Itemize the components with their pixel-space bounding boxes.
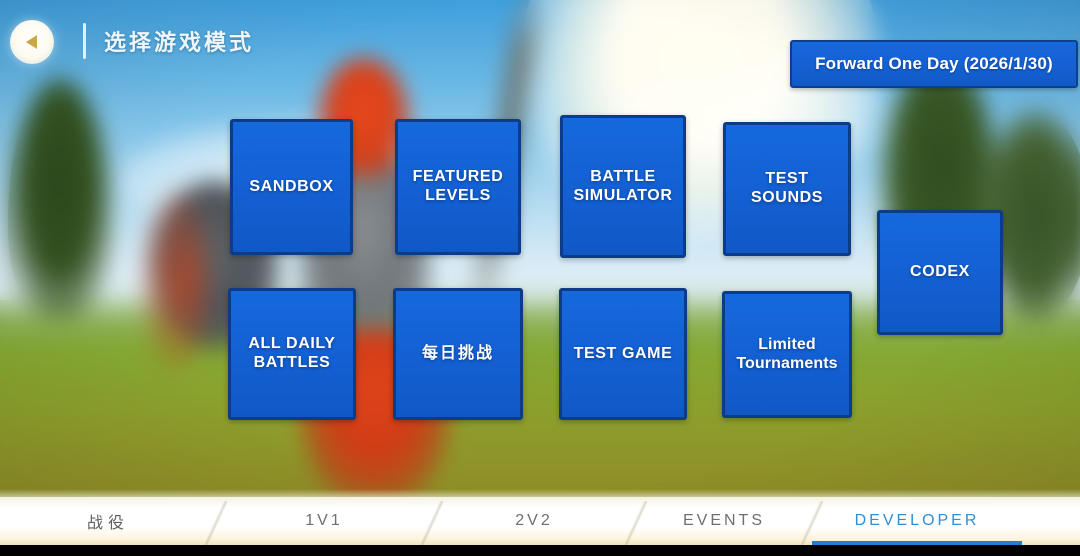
tab-campaign[interactable]: 战役: [0, 497, 216, 545]
tab-label: 战役: [87, 509, 129, 533]
mode-button-battle-simulator[interactable]: BATTLESIMULATOR: [560, 115, 686, 258]
tab-events[interactable]: EVENTS: [636, 497, 812, 545]
mode-button-limited-tournaments[interactable]: LimitedTournaments: [722, 291, 852, 418]
bottom-tab-bar: 战役1V12V2EVENTSDEVELOPER: [0, 497, 1080, 545]
mode-button-label: TEST GAME: [568, 345, 679, 364]
mode-button-label: BATTLESIMULATOR: [567, 168, 678, 206]
tab-2v2[interactable]: 2V2: [432, 497, 636, 545]
mode-button-daily-challenge[interactable]: 每日挑战: [393, 288, 523, 420]
forward-one-day-button[interactable]: Forward One Day (2026/1/30): [790, 40, 1078, 88]
tab-label: 2V2: [515, 512, 552, 530]
screen-bottom-bezel: [0, 545, 1080, 556]
mode-button-label: ALL DAILYBATTLES: [242, 335, 341, 373]
mode-button-label: CODEX: [904, 263, 976, 282]
mode-button-test-game[interactable]: TEST GAME: [559, 288, 687, 420]
mode-button-label: FEATUREDLEVELS: [407, 168, 510, 206]
back-button[interactable]: [10, 20, 54, 64]
page-title: 选择游戏模式: [104, 25, 254, 57]
mode-button-label: LimitedTournaments: [730, 336, 843, 374]
mode-button-featured-levels[interactable]: FEATUREDLEVELS: [395, 119, 521, 255]
tab-developer[interactable]: DEVELOPER: [812, 497, 1022, 545]
back-triangle-icon: [26, 35, 37, 49]
mode-button-all-daily-battles[interactable]: ALL DAILYBATTLES: [228, 288, 356, 420]
mode-button-codex[interactable]: CODEX: [877, 210, 1003, 335]
tab-label: 1V1: [305, 512, 342, 530]
mode-button-label: SANDBOX: [243, 178, 339, 197]
forward-one-day-label: Forward One Day (2026/1/30): [815, 54, 1053, 74]
header-divider: [83, 23, 86, 59]
mode-button-test-sounds[interactable]: TESTSOUNDS: [723, 122, 851, 256]
tab-label: EVENTS: [683, 512, 765, 530]
mode-button-label: TESTSOUNDS: [745, 170, 829, 208]
tab-label: DEVELOPER: [855, 512, 980, 530]
mode-button-label: 每日挑战: [416, 345, 500, 364]
mode-button-sandbox[interactable]: SANDBOX: [230, 119, 353, 255]
tab-1v1[interactable]: 1V1: [216, 497, 432, 545]
game-mode-select-screen: 选择游戏模式 Forward One Day (2026/1/30) SANDB…: [0, 0, 1080, 556]
